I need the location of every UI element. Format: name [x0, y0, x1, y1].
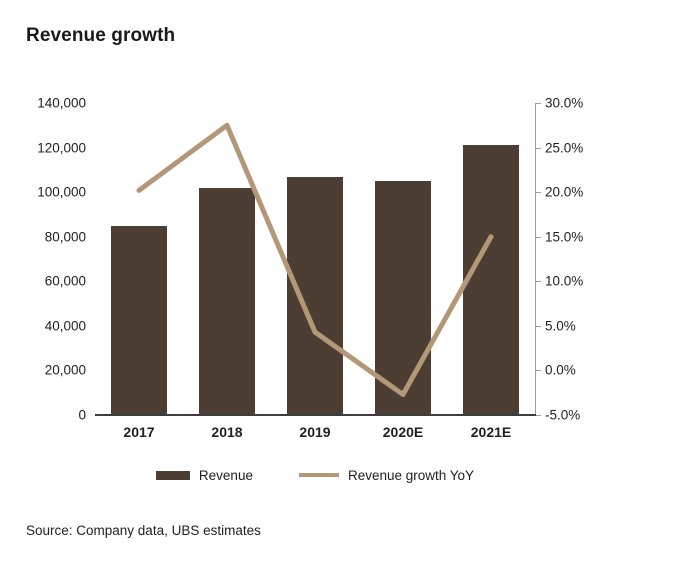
legend-label-revenue: Revenue: [199, 468, 253, 483]
right-axis-tick-label: 0.0%: [545, 363, 576, 378]
left-axis-tick-labels: 140,000120,000100,00080,00060,00040,0002…: [0, 103, 86, 415]
x-axis-tick-label: 2020E: [383, 424, 423, 440]
x-axis-tick-label: 2019: [299, 424, 330, 440]
left-axis-tick-label: 60,000: [0, 274, 86, 289]
legend-swatch-bar-icon: [156, 471, 190, 480]
bar: [375, 181, 430, 415]
right-axis-tick-label: -5.0%: [545, 408, 580, 423]
right-axis-tick-label: 15.0%: [545, 229, 583, 244]
right-axis-tick-label: 25.0%: [545, 140, 583, 155]
revenue-growth-chart-figure: Revenue growth 140,000120,000100,00080,0…: [0, 0, 700, 568]
x-axis-tick-label: 2017: [123, 424, 154, 440]
chart-title: Revenue growth: [26, 25, 175, 47]
legend-label-revenue-growth-yoy: Revenue growth YoY: [348, 468, 474, 483]
left-axis-tick-label: 80,000: [0, 229, 86, 244]
right-axis-tick-mark: [536, 370, 541, 371]
right-axis-tick-mark: [536, 103, 541, 104]
bar: [287, 177, 342, 415]
right-axis-line: [535, 103, 536, 416]
left-axis-tick-label: 140,000: [0, 96, 86, 111]
plot-area: [95, 103, 535, 415]
right-axis-tick-mark: [536, 237, 541, 238]
right-axis-tick-label: 30.0%: [545, 96, 583, 111]
right-axis-tick-mark: [536, 326, 541, 327]
right-axis-tick-label: 10.0%: [545, 274, 583, 289]
bar: [111, 226, 166, 415]
right-axis-tick-mark: [536, 415, 541, 416]
x-axis-tick-label: 2018: [211, 424, 242, 440]
legend-item-revenue-growth-yoy: Revenue growth YoY: [299, 468, 474, 483]
x-axis-line: [95, 414, 536, 416]
right-axis-tick-mark: [536, 281, 541, 282]
left-axis-tick-label: 100,000: [0, 185, 86, 200]
left-axis-tick-label: 40,000: [0, 318, 86, 333]
legend-item-revenue: Revenue: [156, 468, 253, 483]
left-axis-tick-label: 20,000: [0, 363, 86, 378]
right-axis-tick-label: 20.0%: [545, 185, 583, 200]
left-axis-tick-label: 120,000: [0, 140, 86, 155]
right-axis-tick-labels: 30.0%25.0%20.0%15.0%10.0%5.0%0.0%-5.0%: [545, 103, 645, 415]
source-note: Source: Company data, UBS estimates: [26, 523, 261, 538]
right-axis-tick-label: 5.0%: [545, 318, 576, 333]
x-axis-tick-label: 2021E: [471, 424, 511, 440]
bar: [199, 188, 254, 415]
bar: [463, 145, 518, 415]
right-axis-tick-mark: [536, 192, 541, 193]
left-axis-tick-label: 0: [0, 408, 86, 423]
right-axis-tick-mark: [536, 148, 541, 149]
chart-legend: Revenue Revenue growth YoY: [95, 462, 535, 488]
x-axis-tick-labels: 2017201820192020E2021E: [95, 424, 535, 448]
legend-swatch-line-icon: [299, 473, 339, 477]
